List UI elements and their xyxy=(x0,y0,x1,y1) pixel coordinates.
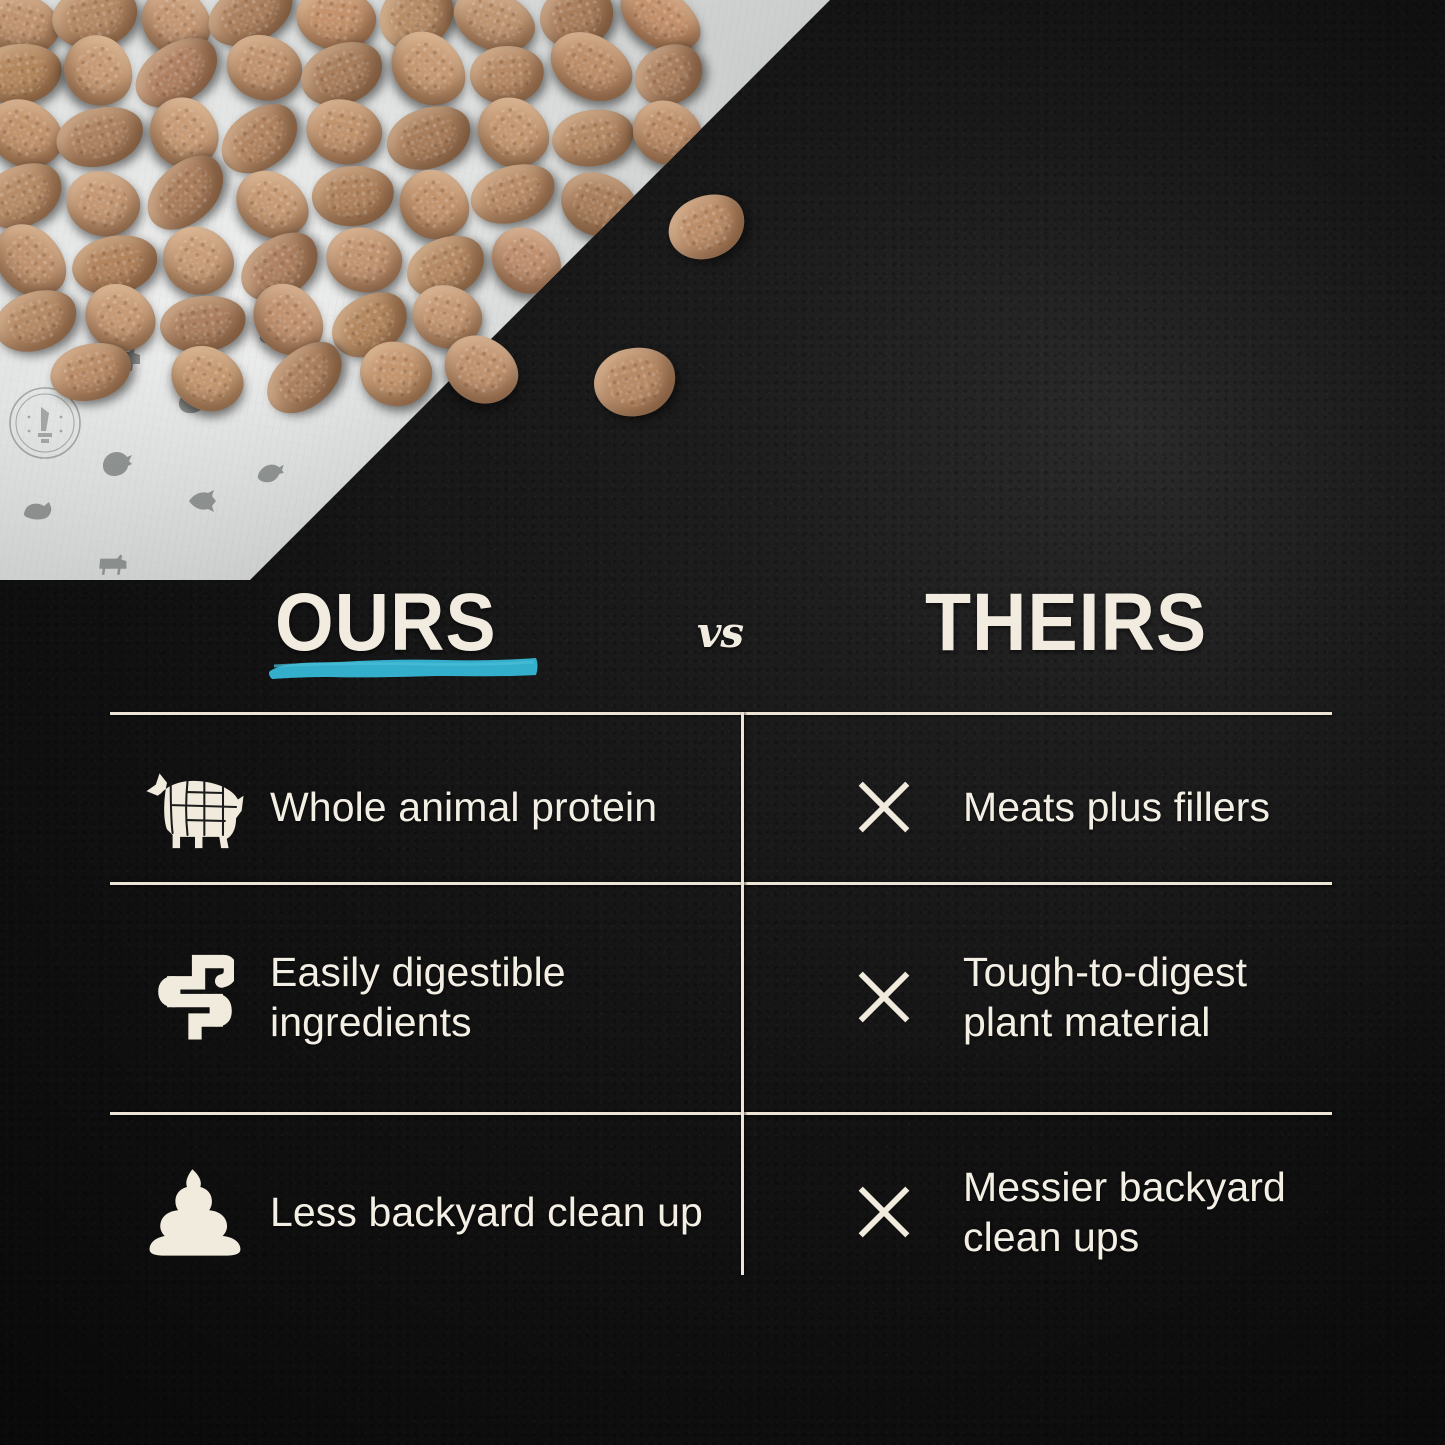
turkey-silhouette-icon xyxy=(98,448,132,478)
heading-ours: OURS xyxy=(275,582,497,664)
heading-theirs: THEIRS xyxy=(925,582,1207,664)
x-mark-icon xyxy=(855,778,963,836)
cow-silhouette-icon xyxy=(20,498,54,524)
duck-silhouette-icon xyxy=(256,460,284,484)
feature-text-ours: Whole animal protein xyxy=(270,782,657,832)
comparison-table: OURS vs THEIRS xyxy=(110,560,1332,700)
poop-icon xyxy=(120,1167,270,1257)
comparison-headings: OURS vs THEIRS xyxy=(110,560,1332,700)
feature-text-theirs: Messier backyard clean ups xyxy=(963,1162,1332,1262)
cow-butcher-cuts-icon xyxy=(120,762,270,852)
x-mark-icon xyxy=(855,968,963,1026)
table-row: Whole animal protein Meats plus fillers xyxy=(110,732,1332,882)
row-theirs-cell: Tough-to-digest plant material xyxy=(741,902,1332,1092)
table-rule-third xyxy=(110,1112,1332,1115)
knife-stamp-icon xyxy=(38,407,52,443)
intestine-digestion-icon xyxy=(120,949,270,1045)
heading-vs: vs xyxy=(697,608,743,657)
row-ours-cell: Whole animal protein xyxy=(110,732,741,882)
feature-text-ours: Easily digestible ingredients xyxy=(270,947,741,1047)
table-row: Easily digestible ingredients Tough-to-d… xyxy=(110,902,1332,1092)
row-theirs-cell: Messier backyard clean ups xyxy=(741,1132,1332,1292)
table-row: Less backyard clean up Messier backyard … xyxy=(110,1132,1332,1292)
feature-text-theirs: Meats plus fillers xyxy=(963,782,1270,832)
feature-text-ours: Less backyard clean up xyxy=(270,1187,703,1237)
feature-text-theirs: Tough-to-digest plant material xyxy=(963,947,1332,1047)
row-ours-cell: Easily digestible ingredients xyxy=(110,902,741,1092)
row-theirs-cell: Meats plus fillers xyxy=(741,732,1332,882)
table-rule-second xyxy=(110,882,1332,885)
row-ours-cell: Less backyard clean up xyxy=(110,1132,741,1292)
x-mark-icon xyxy=(855,1183,963,1241)
table-rule-top xyxy=(110,712,1332,715)
product-comparison-infographic: OURS vs THEIRS xyxy=(0,0,1445,1445)
fish-silhouette-icon xyxy=(188,490,216,512)
